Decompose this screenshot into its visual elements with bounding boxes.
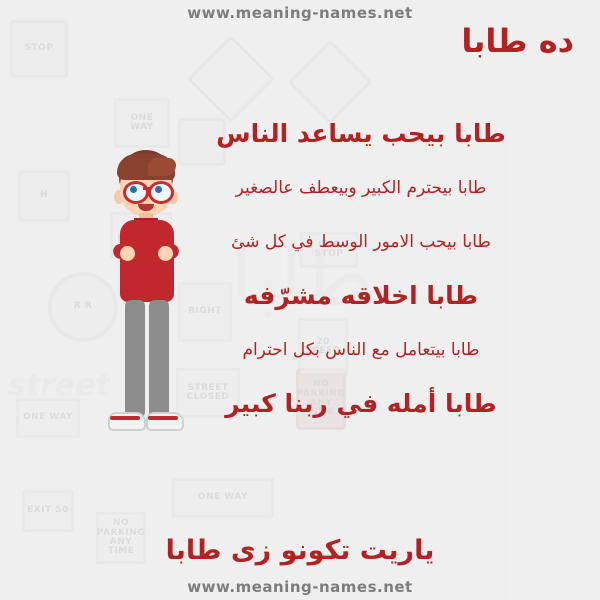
leg-left [125,300,145,418]
hand-right [158,246,173,261]
footer-message: ياريت تكونو زى طابا [0,535,600,566]
eye-right [155,186,162,193]
leg-right [149,300,169,418]
shoe-left [108,412,146,431]
watermark-top: www.meaning-names.net [0,4,600,22]
page-title: ده طابا [461,22,574,60]
eye-left [130,186,137,193]
glasses-lens-right [148,181,174,204]
cartoon-boy-illustration [96,150,216,460]
shoe-right [146,412,184,431]
hand-left [120,246,135,261]
watermark-bottom: www.meaning-names.net [0,578,600,596]
glasses-bridge [143,187,151,190]
glasses-lens-left [123,181,149,204]
hair-fringe [148,158,176,176]
image-canvas: STOP ONE WAY H BUS STOP R R RIGHT NO PAR… [0,0,600,600]
shoe-stripe-right [148,416,178,420]
shoe-stripe-left [110,416,140,420]
